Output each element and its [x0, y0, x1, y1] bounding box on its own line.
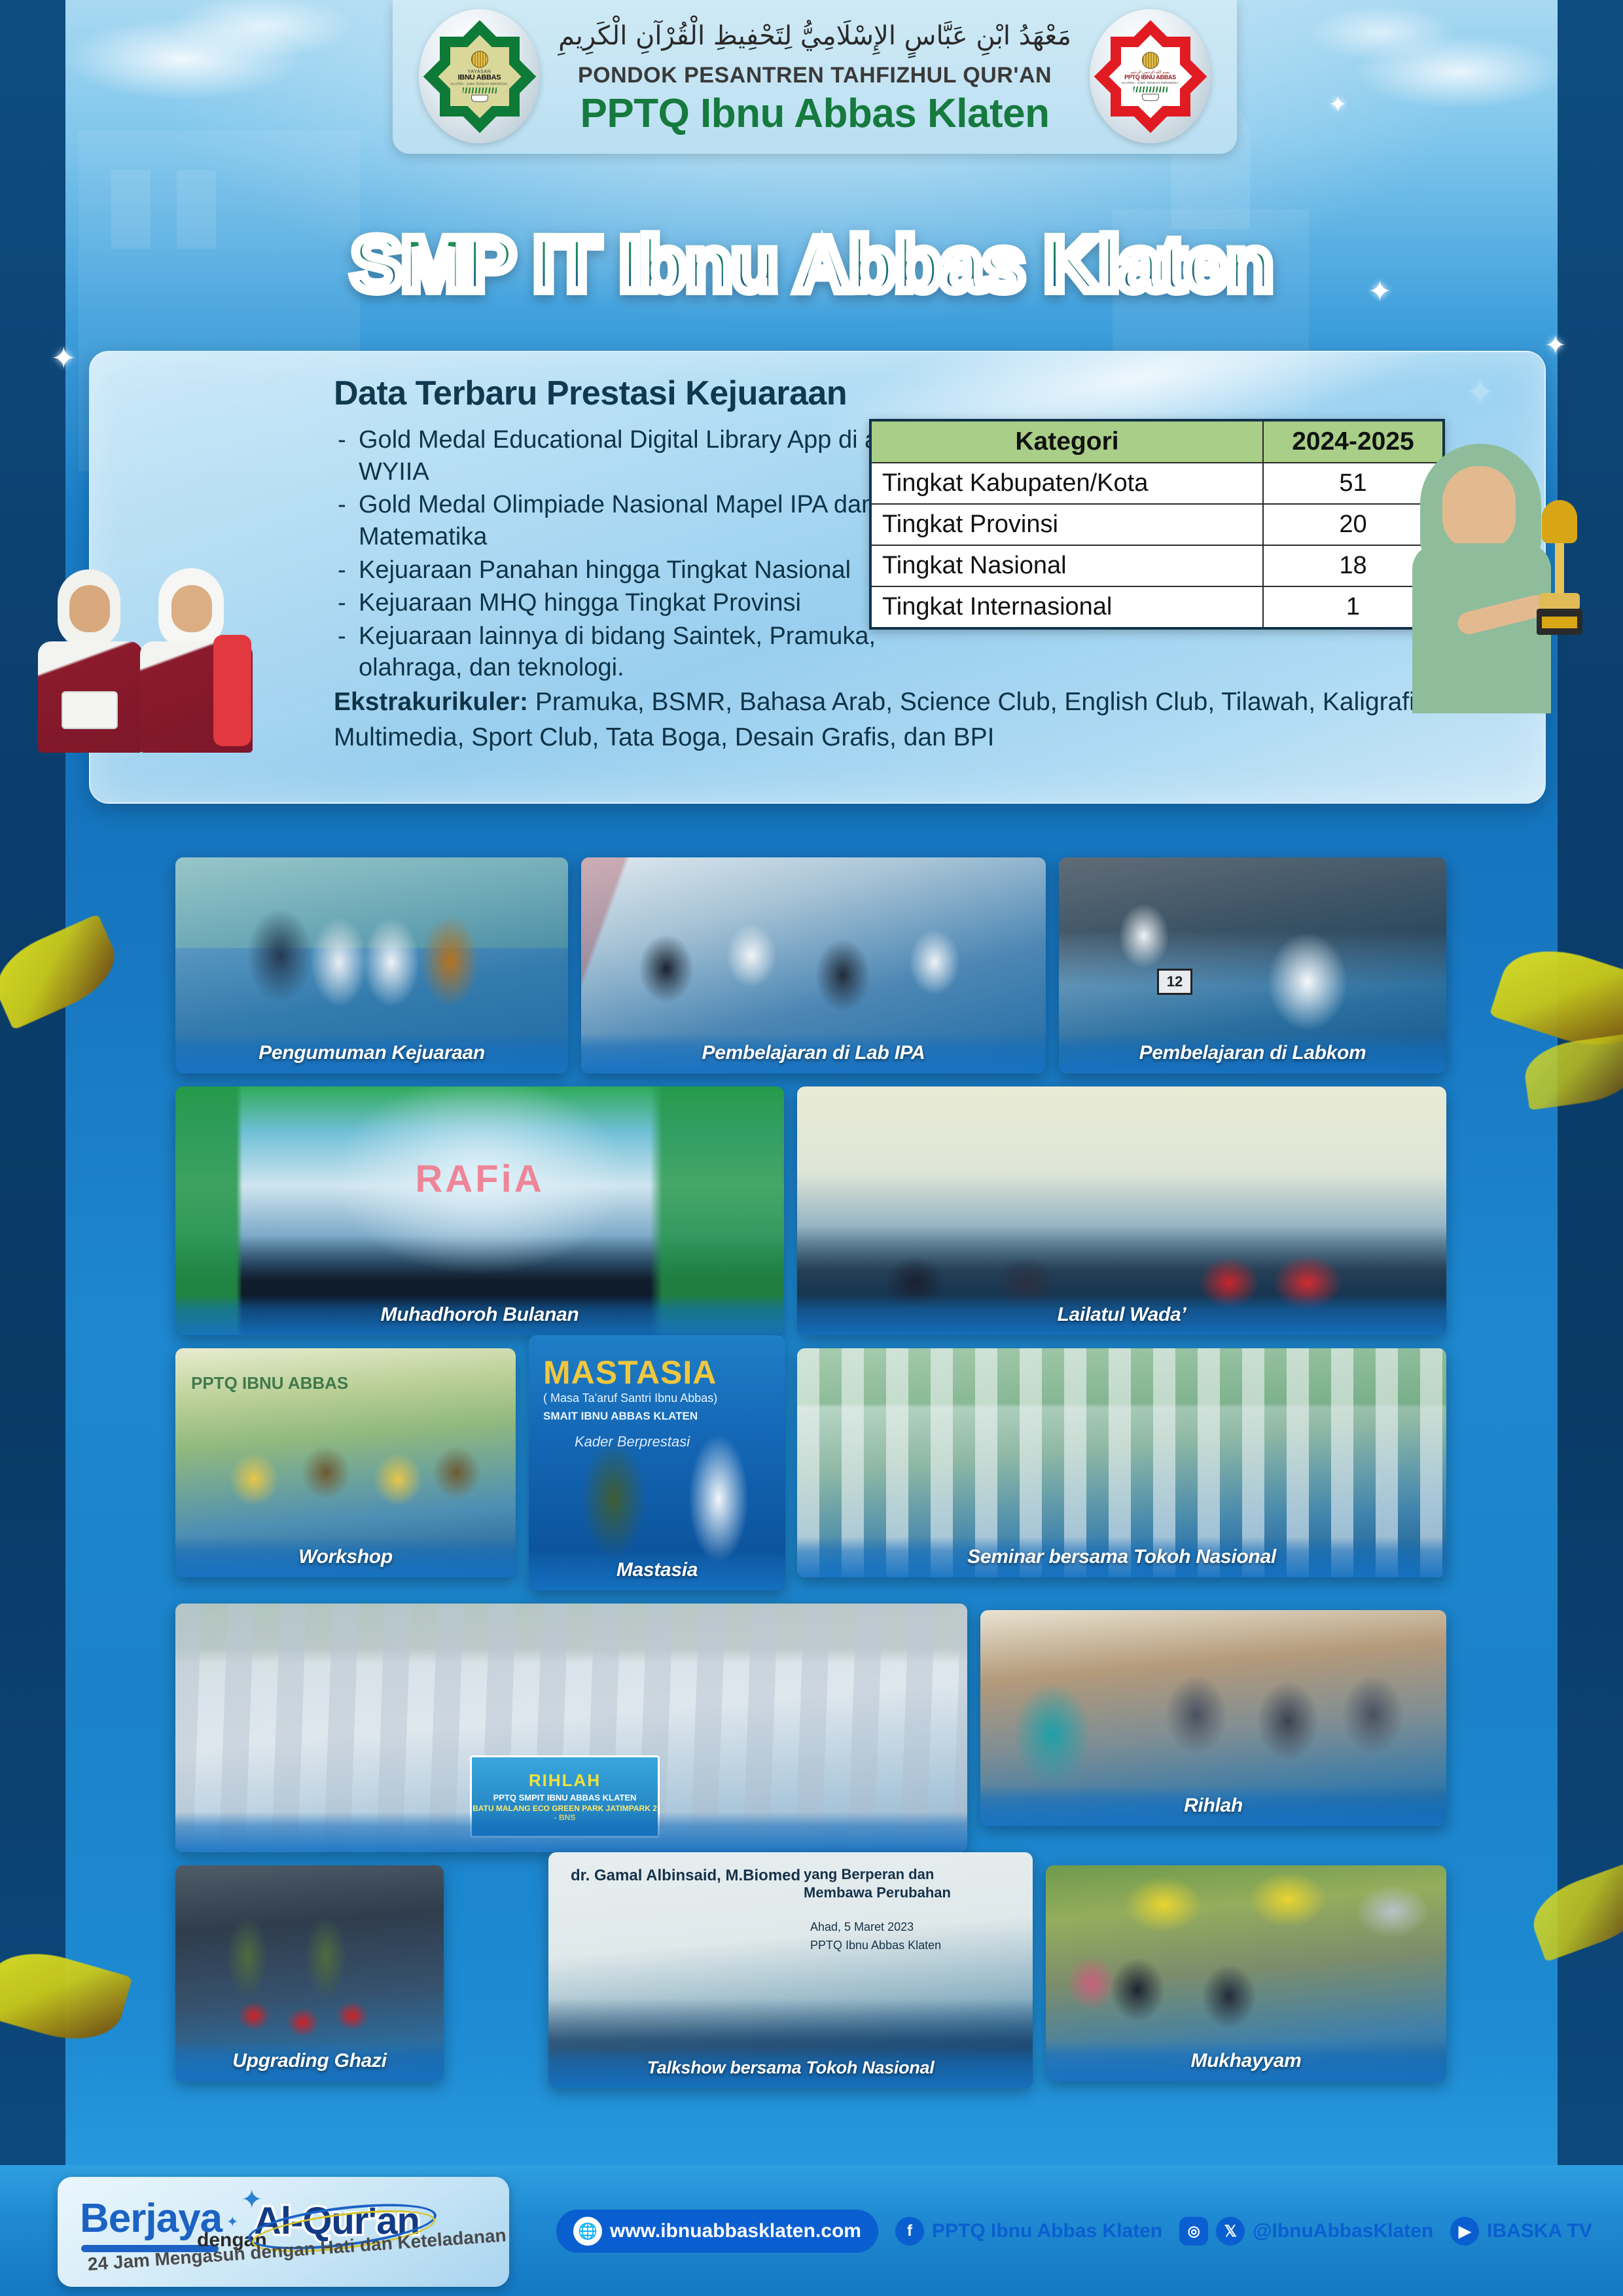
logo-name: PPTQ IBNU ABBAS	[1118, 75, 1183, 81]
photo-caption: Mukhayyam	[1046, 2041, 1446, 2081]
bsmr-students-photo	[38, 563, 254, 753]
gallery-card[interactable]: PPTQ IBNU ABBAS Workshop	[175, 1348, 516, 1577]
banner-subtitle: PPTQ SMPIT IBNU ABBAS KLATEN	[493, 1793, 637, 1803]
cell-kategori: Tingkat Internasional	[870, 586, 1263, 628]
banner-text: PPTQ IBNU ABBAS	[191, 1373, 348, 1393]
gallery-card[interactable]: Seminar bersama Tokoh Nasional	[797, 1348, 1446, 1577]
gallery-card[interactable]: RAFiA Muhadhoroh Bulanan	[175, 1086, 784, 1335]
social-links-row: 🌐 www.ibnuabbasklaten.com f PPTQ Ibnu Ab…	[556, 2207, 1592, 2255]
website-link[interactable]: 🌐 www.ibnuabbasklaten.com	[556, 2210, 878, 2253]
institution-name: PPTQ Ibnu Abbas Klaten	[580, 90, 1050, 137]
facebook-label: PPTQ Ibnu Abbas Klaten	[932, 2220, 1162, 2242]
yayasan-logo: YAYASAN IBNU ABBAS KLATEN - JAWA TENGAH …	[419, 9, 540, 143]
gallery-card[interactable]: Pembelajaran di Lab IPA	[581, 857, 1046, 1073]
gallery-row-3: PPTQ IBNU ABBAS Workshop MASTASIA ( Masa…	[0, 1342, 1623, 1597]
social-handle-label: @IbnuAbbasKlaten	[1253, 2220, 1433, 2242]
photo-caption	[175, 1812, 967, 1852]
photo-caption: Muhadhoroh Bulanan	[175, 1295, 784, 1335]
photo-caption: Pembelajaran di Lab IPA	[581, 1033, 1046, 1073]
instagram-icon: ◎	[1179, 2217, 1208, 2246]
youtube-icon: ▶	[1450, 2217, 1479, 2246]
sparkle-icon: ✦	[241, 2185, 263, 2215]
gallery-row-4: RIHLAH PPTQ SMPIT IBNU ABBAS KLATEN BATU…	[0, 1597, 1623, 1859]
star-badge-icon: YAYASAN IBNU ABBAS KLATEN - JAWA TENGAH …	[440, 37, 520, 117]
achievement-list: Gold Medal Educational Digital Library A…	[334, 424, 942, 685]
globe-icon: 🌐	[573, 2217, 602, 2246]
list-item: Gold Medal Olimpiade Nasional Mapel IPA …	[334, 489, 942, 552]
gallery-card[interactable]: Upgrading Ghazi	[175, 1865, 444, 2081]
leaf-wreath-icon	[463, 88, 497, 94]
poster-root: YAYASAN IBNU ABBAS KLATEN - JAWA TENGAH …	[0, 0, 1623, 2296]
facebook-link[interactable]: f PPTQ Ibnu Abbas Klaten	[895, 2217, 1162, 2246]
star-badge-icon: بسم الله الرحمن الرحيم PPTQ IBNU ABBAS K…	[1111, 37, 1190, 117]
facebook-icon: f	[895, 2217, 924, 2246]
sparkle-icon: ✦	[1368, 275, 1392, 308]
logo-sub: KLATEN - JAWA TENGAH INDONESIA	[447, 82, 512, 86]
table-row: Tingkat Provinsi 20	[870, 504, 1444, 545]
cell-kategori: Tingkat Nasional	[870, 545, 1263, 586]
monitor-number-label: 12	[1157, 969, 1192, 995]
gallery-card[interactable]: 12 Pembelajaran di Labkom	[1059, 857, 1446, 1073]
trophy-student-photo	[1394, 432, 1610, 713]
photo-caption: Talkshow bersama Tokoh Nasional	[548, 2047, 1033, 2088]
globe-icon	[471, 50, 488, 67]
extracurricular-text: Ekstrakurikuler: Pramuka, BSMR, Bahasa A…	[334, 685, 1499, 755]
leaf-wreath-icon	[1133, 86, 1168, 92]
extracurricular-label: Ekstrakurikuler:	[334, 688, 528, 716]
logo-sub: KLATEN - JAWA TENGAH INDONESIA	[1118, 82, 1183, 85]
youtube-label: IBASKA TV	[1487, 2220, 1592, 2242]
cell-kategori: Tingkat Provinsi	[870, 504, 1263, 545]
achievement-table: Kategori 2024-2025 Tingkat Kabupaten/Kot…	[869, 419, 1445, 630]
logo-name: IBNU ABBAS	[447, 74, 512, 81]
globe-icon	[1142, 52, 1159, 69]
photo-caption: Lailatul Wada’	[797, 1295, 1446, 1335]
gallery-card[interactable]: Lailatul Wada’	[797, 1086, 1446, 1335]
x-twitter-icon: 𝕏	[1216, 2217, 1245, 2246]
book-icon	[1142, 94, 1159, 101]
arabic-institution-name: مَعْهَدُ ابْنِ عَبَّاسٍ الإِسْلَامِيُّ ل…	[558, 21, 1071, 51]
sparkle-icon: ✦	[226, 2214, 238, 2231]
column-header-kategori: Kategori	[870, 420, 1263, 463]
sparkle-icon: ✦	[1329, 92, 1347, 118]
institution-subtitle: PONDOK PESANTREN TAHFIZHUL QUR'AN	[578, 63, 1052, 88]
book-icon	[471, 95, 488, 102]
banner-text: RAFiA	[415, 1157, 544, 1201]
table-row: Tingkat Kabupaten/Kota 51	[870, 463, 1444, 504]
sparkle-icon: ✦	[1544, 331, 1567, 361]
photo-caption: Workshop	[175, 1537, 516, 1577]
gallery-card[interactable]: Pengumuman Kejuaraan	[175, 857, 568, 1073]
gallery-card[interactable]: RIHLAH PPTQ SMPIT IBNU ABBAS KLATEN BATU…	[175, 1604, 967, 1852]
list-item: Kejuaraan lainnya di bidang Saintek, Pra…	[334, 620, 942, 684]
photo-gallery: Pengumuman Kejuaraan Pembelajaran di Lab…	[0, 838, 1623, 2088]
banner-title: RIHLAH	[529, 1770, 601, 1791]
social-handle-link[interactable]: ◎ 𝕏 @IbnuAbbasKlaten	[1179, 2217, 1433, 2246]
pptq-logo: بسم الله الرحمن الرحيم PPTQ IBNU ABBAS K…	[1090, 9, 1211, 143]
photo-caption: Upgrading Ghazi	[175, 2041, 444, 2081]
youtube-link[interactable]: ▶ IBASKA TV	[1450, 2217, 1592, 2246]
photo-caption: Rihlah	[980, 1785, 1446, 1826]
gallery-card[interactable]: Mukhayyam	[1046, 1865, 1446, 2081]
photo-caption: Mastasia	[529, 1550, 785, 1590]
photo-caption: Pembelajaran di Labkom	[1059, 1033, 1446, 1073]
panel-title: Data Terbaru Prestasi Kejuaraan	[334, 374, 847, 413]
photo-caption: Pengumuman Kejuaraan	[175, 1033, 568, 1073]
photo-caption: Seminar bersama Tokoh Nasional	[797, 1537, 1446, 1577]
list-item: Gold Medal Educational Digital Library A…	[334, 424, 942, 488]
gallery-row-5: Upgrading Ghazi dr. Gamal Albinsaid, M.B…	[0, 1859, 1623, 2088]
cell-kategori: Tingkat Kabupaten/Kota	[870, 463, 1263, 504]
gallery-row-2: RAFiA Muhadhoroh Bulanan Lailatul Wada’	[0, 1080, 1623, 1342]
table-header-row: Kategori 2024-2025	[870, 420, 1444, 463]
header-panel: YAYASAN IBNU ABBAS KLATEN - JAWA TENGAH …	[393, 0, 1237, 154]
list-item: Kejuaraan Panahan hingga Tingkat Nasiona…	[334, 554, 942, 586]
website-label: www.ibnuabbasklaten.com	[610, 2220, 861, 2242]
sparkle-icon: ✦	[51, 340, 77, 376]
table-row: Tingkat Internasional 1	[870, 586, 1444, 628]
gallery-card[interactable]: MASTASIA ( Masa Ta'aruf Santri Ibnu Abba…	[529, 1335, 785, 1590]
list-item: Kejuaraan MHQ hingga Tingkat Provinsi	[334, 587, 942, 619]
gallery-card[interactable]: Rihlah	[980, 1610, 1446, 1826]
gallery-row-1: Pengumuman Kejuaraan Pembelajaran di Lab…	[0, 838, 1623, 1080]
table-row: Tingkat Nasional 18	[870, 545, 1444, 586]
brand-tagline-box: Berjaya dengan Al-Qur'an 24 Jam Mengasuh…	[58, 2177, 509, 2287]
gallery-card[interactable]: dr. Gamal Albinsaid, M.Biomed yang Berpe…	[548, 1852, 1033, 2088]
